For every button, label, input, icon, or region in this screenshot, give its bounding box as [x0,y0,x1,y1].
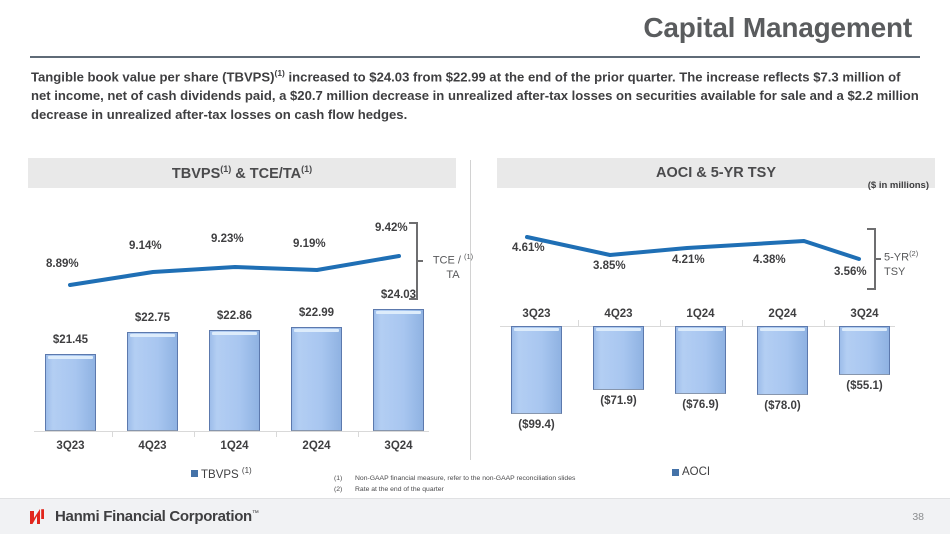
tce-ta-bracket-tick [418,260,423,262]
aoci-category-3q24: 3Q24 [839,308,890,320]
aoci-category-2q24: 2Q24 [757,308,808,320]
tbvps-value-1q24: $22.86 [209,310,260,322]
tbvps-value-4q23: $22.75 [127,312,178,324]
tbvps-category-1q24: 1Q24 [209,440,260,452]
tbvps-value-2q24: $22.99 [291,307,342,319]
tce-ta-value-3q24: 9.42% [375,222,408,234]
summary-paragraph: Tangible book value per share (TBVPS)(1)… [31,64,921,124]
footnote-item: (1) Non-GAAP financial measure, refer to… [334,474,575,485]
aoci-bar-3q24 [839,326,890,375]
tce-ta-value-2q24: 9.19% [293,238,326,250]
tbvps-title-text2: & TCE/TA [231,166,301,182]
tbvps-legend-sup: (1) [242,466,252,475]
tbvps-category-3q24: 3Q24 [373,440,424,452]
footnote-item: (2) Rate at the end of the quarter [334,485,575,496]
tbvps-panel-title: TBVPS(1) & TCE/TA(1) [172,164,312,182]
aoci-category-1q24: 1Q24 [675,308,726,320]
aoci-value-1q24: ($76.9) [675,399,726,411]
aoci-bar-3q23 [511,326,562,414]
footnote-number: (1) [334,474,346,485]
aoci-panel-title: AOCI & 5-YR TSY [656,165,776,181]
tbvps-axis-tick-3 [276,431,277,437]
aoci-value-2q24: ($78.0) [757,400,808,412]
tbvps-value-3q23: $21.45 [45,334,96,346]
tbvps-axis-tick-4 [358,431,359,437]
tsy-value-2q24: 4.38% [753,254,786,266]
tce-ta-line-chart: 8.89% 9.14% 9.23% 9.19% 9.42% TCE / (1) … [28,188,456,288]
aoci-value-3q24: ($55.1) [839,380,890,392]
aoci-category-4q23: 4Q23 [593,308,644,320]
tsy-line-chart: 4.61% 3.85% 4.21% 4.38% 3.56% 5-YR(2) TS… [497,188,935,288]
tbvps-legend-label: TBVPS (1) [201,466,252,481]
tce-ta-value-4q23: 9.14% [129,240,162,252]
tbvps-legend: TBVPS (1) [191,466,252,481]
tbvps-legend-swatch-icon [191,470,198,477]
tbvps-bar-4q23 [127,332,178,431]
aoci-value-3q23: ($99.4) [511,419,562,431]
brand-name: Hanmi Financial Corporation™ [55,508,259,525]
tbvps-legend-text: TBVPS [201,469,239,481]
aoci-bar-2q24 [757,326,808,395]
tbvps-bar-3q24 [373,309,424,431]
tbvps-axis-line [34,431,429,432]
slide: Capital Management Tangible book value p… [0,0,950,534]
page-title: Capital Management [643,12,912,44]
aoci-panel: AOCI & 5-YR TSY ($ in millions) 4.61% 3.… [497,158,935,448]
tbvps-value-3q24: $24.03 [373,289,424,301]
tbvps-bar-3q23 [45,354,96,431]
hanmi-logo-icon [28,507,48,526]
tsy-bracket-tick [876,258,881,260]
page-number: 38 [912,511,924,523]
aoci-axis-tick-2 [660,320,661,326]
summary-footnote-marker: (1) [275,68,285,78]
brand-text: Hanmi Financial Corporation [55,508,252,525]
tce-ta-line-series [70,256,399,285]
aoci-panel-header: AOCI & 5-YR TSY ($ in millions) [497,158,935,188]
tbvps-title-sup1: (1) [220,164,231,174]
tbvps-title-text: TBVPS [172,166,220,182]
tbvps-panel-header: TBVPS(1) & TCE/TA(1) [28,158,456,188]
tbvps-axis-tick-2 [194,431,195,437]
aoci-bar-1q24 [675,326,726,394]
tce-ta-value-3q23: 8.89% [46,258,79,270]
tce-ta-label-b: TA [446,269,459,281]
tbvps-bar-chart: $21.45 $22.75 $22.86 $22.99 $24.03 3Q23 … [28,288,456,448]
aoci-axis-tick-4 [824,320,825,326]
aoci-legend-label: AOCI [682,466,710,478]
panel-divider [470,160,471,460]
aoci-legend: AOCI [672,466,710,478]
footnote-text: Rate at the end of the quarter [355,485,444,496]
footnote-number: (2) [334,485,346,496]
tsy-value-3q24: 3.56% [834,266,867,278]
footnote-text: Non-GAAP financial measure, refer to the… [355,474,575,485]
footnotes: (1) Non-GAAP financial measure, refer to… [334,474,575,495]
tbvps-axis-tick-1 [112,431,113,437]
tce-ta-label-a: TCE / [433,255,464,267]
tce-ta-label-sup: (1) [464,252,473,261]
aoci-axis-tick-3 [742,320,743,326]
tbvps-category-4q23: 4Q23 [127,440,178,452]
aoci-axis-tick-1 [578,320,579,326]
summary-text-part1: Tangible book value per share (TBVPS) [31,69,275,84]
tbvps-category-3q23: 3Q23 [45,440,96,452]
tsy-value-1q24: 4.21% [672,254,705,266]
tsy-label-a: 5-YR [884,252,909,264]
aoci-bar-chart: 3Q23 4Q23 1Q24 2Q24 3Q24 ($99.4) ($71.9)… [497,288,935,448]
tsy-label-sup: (2) [909,249,918,258]
aoci-legend-swatch-icon [672,469,679,476]
tsy-bracket-label: 5-YR(2) TSY [884,247,936,279]
tbvps-bar-1q24 [209,330,260,431]
aoci-category-3q23: 3Q23 [511,308,562,320]
tsy-value-4q23: 3.85% [593,260,626,272]
tce-ta-value-1q24: 9.23% [211,233,244,245]
brand-trademark: ™ [252,510,259,517]
tbvps-category-2q24: 2Q24 [291,440,342,452]
tce-ta-bracket-label: TCE / (1) TA [426,250,480,282]
brand: Hanmi Financial Corporation™ [28,507,259,526]
slide-footer: Hanmi Financial Corporation™ 38 [0,498,950,534]
tbvps-bar-2q24 [291,327,342,431]
aoci-value-4q23: ($71.9) [593,395,644,407]
tbvps-title-sup2: (1) [301,164,312,174]
tbvps-panel: TBVPS(1) & TCE/TA(1) 8.89% 9.14% 9.23% 9… [28,158,456,448]
tsy-label-b: TSY [884,266,905,278]
title-divider [30,56,920,58]
aoci-bar-4q23 [593,326,644,390]
tsy-value-3q23: 4.61% [512,242,545,254]
